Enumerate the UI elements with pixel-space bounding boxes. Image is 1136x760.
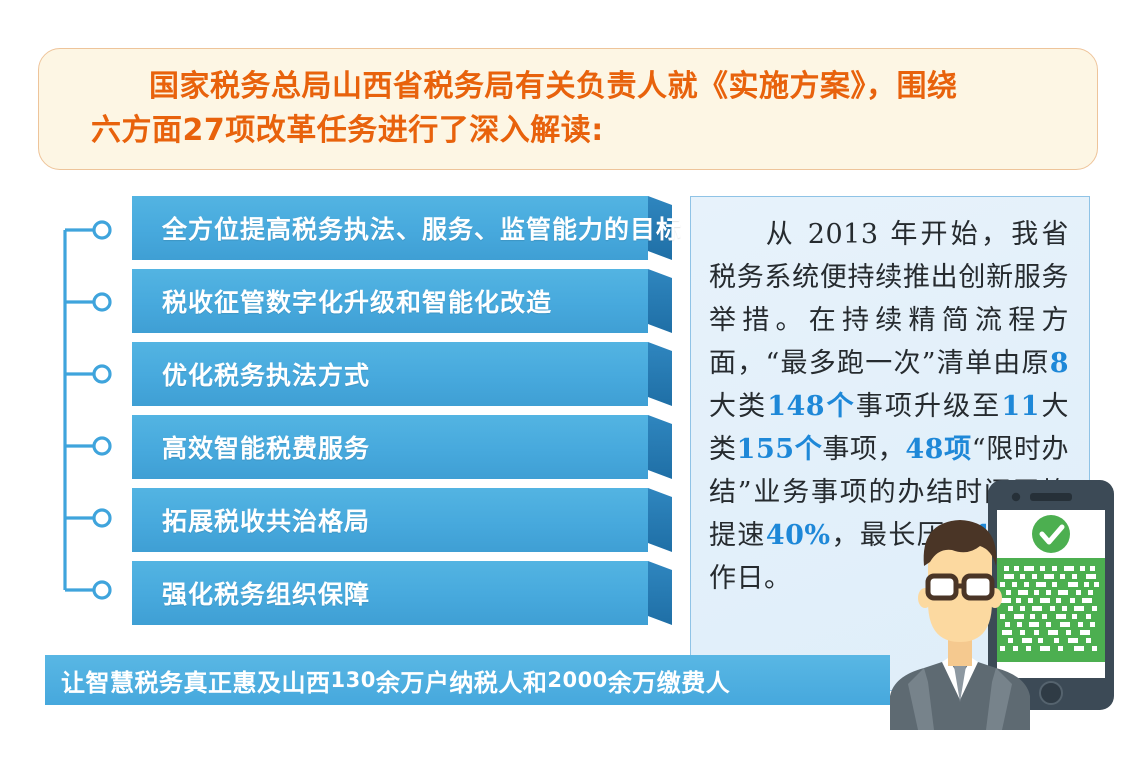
list-item[interactable]: 税收征管数字化升级和智能化改造 xyxy=(132,269,672,333)
list-item-label: 拓展税收共治格局 xyxy=(162,488,370,552)
highlight-figure: 155个 xyxy=(737,434,823,465)
list-item-label: 全方位提高税务执法、服务、监管能力的目标 xyxy=(162,196,682,260)
title-box: 国家税务总局山西省税务局有关负责人就《实施方案》，围绕 六方面27项改革任务进行… xyxy=(38,48,1098,170)
list-item[interactable]: 拓展税收共治格局 xyxy=(132,488,672,552)
list-item-label: 优化税务执法方式 xyxy=(162,342,370,406)
list-item[interactable]: 高效智能税费服务 xyxy=(132,415,672,479)
banner-feepayer-count: 2000 xyxy=(547,668,607,692)
title-line-2: 六方面27项改革任务进行了深入解读: xyxy=(91,109,1056,153)
bottom-banner-text: 让智慧税务真正惠及山西 130 余万户纳税人和 2000 余万缴费人 xyxy=(61,655,730,705)
bar-fold xyxy=(648,342,672,406)
bar-fold xyxy=(648,488,672,552)
highlight-figure: 11 xyxy=(1001,391,1040,422)
green-check-icon xyxy=(1032,515,1070,553)
infographic-canvas: 国家税务总局山西省税务局有关负责人就《实施方案》，围绕 六方面27项改革任务进行… xyxy=(0,0,1136,760)
bottom-banner: 让智慧税务真正惠及山西 130 余万户纳税人和 2000 余万缴费人 xyxy=(45,655,890,705)
highlight-figure: 40% xyxy=(766,520,831,551)
banner-taxpayer-count: 130 xyxy=(331,668,376,692)
bracket-connector xyxy=(60,200,130,620)
bar-fold xyxy=(648,269,672,333)
highlight-figure: 148个 xyxy=(767,391,856,422)
illustration-svg xyxy=(880,470,1136,730)
paragraph-text: 从 2013 年开始，我省税务系统便持续推出创新服务举措。在持续精简流程方面，“… xyxy=(709,219,1069,379)
list-item[interactable]: 全方位提高税务执法、服务、监管能力的目标 xyxy=(132,196,672,260)
list-item-label: 强化税务组织保障 xyxy=(162,561,370,625)
banner-suffix: 余万缴费人 xyxy=(608,663,731,698)
list-item-label: 税收征管数字化升级和智能化改造 xyxy=(162,269,552,333)
illustration xyxy=(880,470,1136,730)
bar-fold xyxy=(648,561,672,625)
page-title: 国家税务总局山西省税务局有关负责人就《实施方案》，围绕 六方面27项改革任务进行… xyxy=(91,65,1056,153)
paragraph-text: 事项升级至 xyxy=(856,391,1002,422)
banner-prefix: 让智慧税务真正惠及山西 xyxy=(61,663,331,698)
list-item[interactable]: 优化税务执法方式 xyxy=(132,342,672,406)
banner-middle: 余万户纳税人和 xyxy=(376,663,548,698)
highlight-figure: 8 xyxy=(1050,348,1069,379)
highlight-figure: 48项 xyxy=(905,434,971,465)
list-item-label: 高效智能税费服务 xyxy=(162,415,370,479)
reform-task-list: 全方位提高税务执法、服务、监管能力的目标 税收征管数字化升级和智能化改造 优化税… xyxy=(132,196,672,634)
title-line-1: 国家税务总局山西省税务局有关负责人就《实施方案》，围绕 xyxy=(91,65,1056,109)
list-item[interactable]: 强化税务组织保障 xyxy=(132,561,672,625)
bracket-svg xyxy=(60,200,130,620)
paragraph-text: 大类 xyxy=(709,391,767,422)
paragraph-text: 事项， xyxy=(822,434,905,465)
bar-fold xyxy=(648,415,672,479)
